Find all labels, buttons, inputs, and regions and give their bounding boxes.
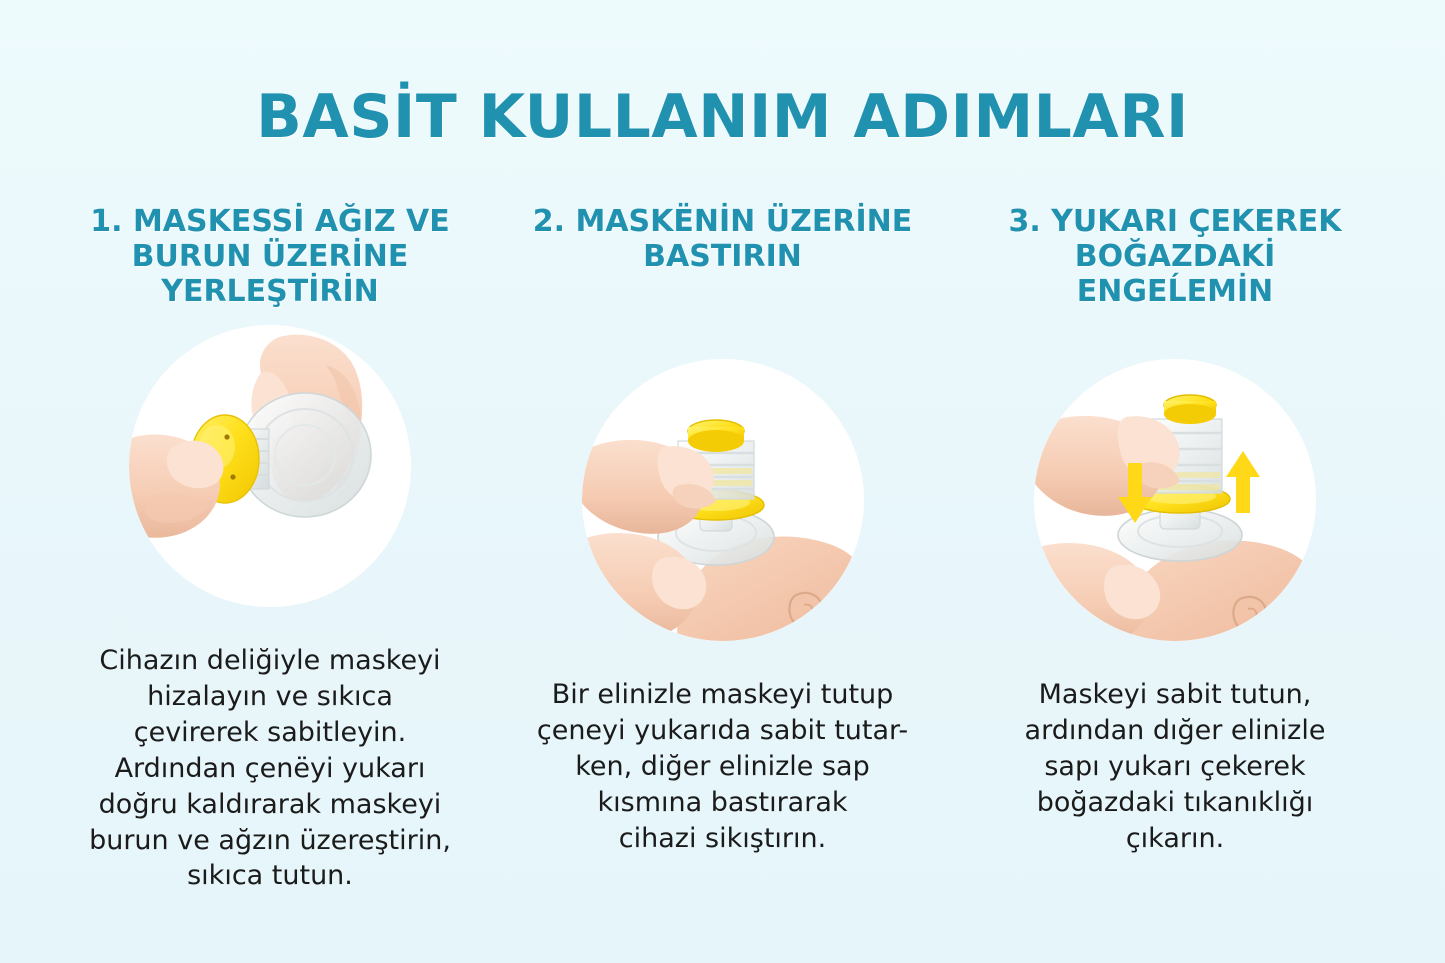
caption-line: cihazi sikıştırın.	[523, 821, 923, 857]
step-3-caption: Maskeyi sabit tutun, ardından dığer elin…	[975, 677, 1375, 857]
step-2-heading: 2. MASKËNİN ÜZERİNE BASTIRIN	[523, 205, 923, 323]
caption-line: sıkıca tutun.	[70, 858, 470, 894]
step-1-caption: Cihazın deliğiyle maskeyi hizalayın ve s…	[70, 643, 470, 894]
step-1-heading-line-2: BURUN ÜZERİNE	[132, 239, 409, 274]
caption-line: Ardından çenëyi yukarı	[70, 751, 470, 787]
caption-line: sapı yukarı çekerek	[975, 749, 1375, 785]
step-1-photo	[129, 325, 411, 607]
step-2-photo	[582, 359, 864, 641]
step-1-heading-line-1: 1. MASKESSİ AĞIZ VE	[90, 204, 450, 239]
caption-line: çıkarın.	[975, 821, 1375, 857]
caption-line: ardından dığer elinizle	[975, 713, 1375, 749]
caption-line: burun ve ağzın üzereştirin,	[70, 823, 470, 859]
step-card-3: 3. YUKARI ÇEKEREK BOĞAZDAKİ ENGEĹEMİN	[965, 205, 1385, 857]
step-card-2: 2. MASKËNİN ÜZERİNE BASTIRIN	[513, 205, 933, 857]
step-1-heading-line-3: YERLEŞTİRİN	[161, 274, 379, 309]
caption-line: Bir elinizle maskeyi tutup	[523, 677, 923, 713]
steps-container: 1. MASKESSİ AĞIZ VE BURUN ÜZERİNE YERLEŞ…	[0, 205, 1445, 894]
step-3-heading: 3. YUKARI ÇEKEREK BOĞAZDAKİ ENGEĹEMİN	[975, 205, 1375, 323]
page-title: BASİT KULLANIM ADIMLARI	[0, 86, 1445, 149]
caption-line: hizalayın ve sıkıca	[70, 679, 470, 715]
step-3-heading-line-2: BOĞAZDAKİ ENGEĹEMİN	[1075, 239, 1276, 309]
caption-line: çeneyi yukarıda sabit tutar-	[523, 713, 923, 749]
step-3-photo	[1034, 359, 1316, 641]
infographic-page: BASİT KULLANIM ADIMLARI 1. MASKESSİ AĞIZ…	[0, 0, 1445, 963]
step-2-caption: Bir elinizle maskeyi tutup çeneyi yukarı…	[523, 677, 923, 857]
caption-line: Maskeyi sabit tutun,	[975, 677, 1375, 713]
caption-line: çevirerek sabitleyin.	[70, 715, 470, 751]
caption-line: Cihazın deliğiyle maskeyi	[70, 643, 470, 679]
step-1-heading: 1. MASKESSİ AĞIZ VE BURUN ÜZERİNE YERLEŞ…	[70, 205, 470, 323]
caption-line: ken, diğer elinizle sap	[523, 749, 923, 785]
step-2-heading-line-1: 2. MASKËNİN	[533, 204, 756, 239]
caption-line: boğazdaki tıkanıklığı	[975, 785, 1375, 821]
caption-line: kısmına bastırarak	[523, 785, 923, 821]
step-card-1: 1. MASKESSİ AĞIZ VE BURUN ÜZERİNE YERLEŞ…	[60, 205, 480, 894]
step-3-heading-line-1: 3. YUKARI ÇEKEREK	[1008, 204, 1341, 239]
caption-line: doğru kaldırarak maskeyi	[70, 787, 470, 823]
